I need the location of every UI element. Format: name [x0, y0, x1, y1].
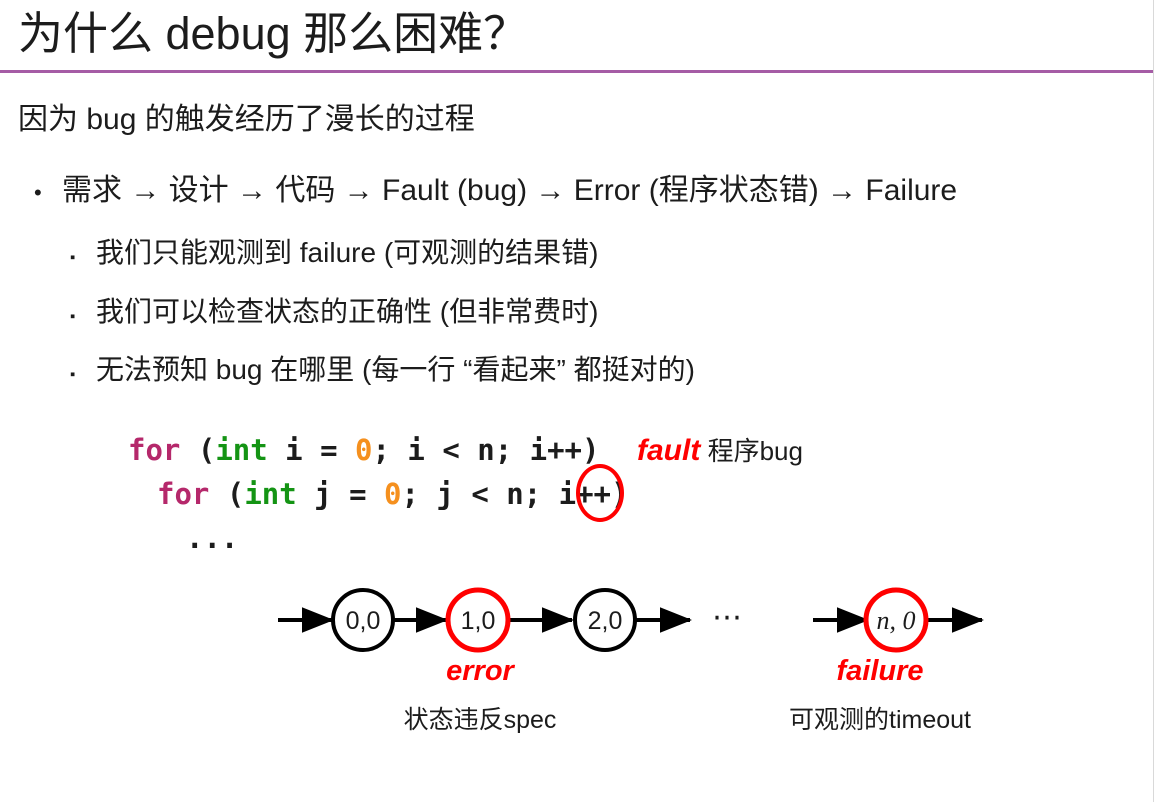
fault-annotation-zh: 程序bug [708, 436, 803, 466]
code-type-int: int [215, 433, 267, 467]
state-node-n0-failure: n, 0 [866, 590, 926, 650]
error-annotation-zh: 状态违反spec [380, 700, 580, 736]
code-punct: ( [180, 433, 215, 467]
slide-canvas: 为什么 debug 那么困难？ 因为 bug 的触发经历了漫长的过程 • 需求 … [0, 0, 1154, 802]
code-number-zero: 0 [355, 433, 372, 467]
bullet-square-icon: ▪ [70, 238, 96, 278]
bullet-level2-unknown-bug: ▪ 无法预知 bug 在哪里 (每一行 “看起来” 都挺对的) [70, 350, 695, 395]
bullet-level2-observe-failure: ▪ 我们只能观测到 failure (可观测的结果错) [70, 233, 598, 278]
bullet-level2-label: 我们只能观测到 failure (可观测的结果错) [96, 233, 598, 273]
code-keyword-for: for [157, 477, 209, 511]
error-annotation-em: error [405, 655, 555, 688]
state-node-label: 2,0 [588, 607, 623, 635]
bullet-square-icon: ▪ [70, 297, 96, 337]
bug-highlight-circle-icon [576, 464, 624, 522]
fault-annotation: fault 程序bug [637, 430, 803, 472]
code-line-ellipsis: ... [128, 516, 628, 560]
code-punct: ( [209, 477, 244, 511]
code-type-int: int [244, 477, 296, 511]
state-node-label: 1,0 [461, 607, 496, 635]
state-node-10-error: 1,0 [448, 590, 508, 650]
bullet-level2-label: 我们可以检查状态的正确性 (但非常费时) [96, 292, 598, 332]
bullet-dot-icon: • [34, 172, 62, 214]
code-line-inner-for: for (int j = 0; j < n; i++) [128, 472, 628, 516]
diagram-ellipsis: ⋯ [712, 600, 744, 635]
state-node-label: 0,0 [346, 607, 381, 635]
bullet-level1: • 需求 → 设计 → 代码 → Fault (bug) → Error (程序… [34, 170, 957, 214]
code-var-assign: j = [297, 477, 384, 511]
page-title: 为什么 debug 那么困难？ [18, 4, 528, 64]
state-node-20: 2,0 [575, 590, 635, 650]
bullet-level1-label: 需求 → 设计 → 代码 → Fault (bug) → Error (程序状态… [62, 170, 957, 212]
failure-annotation-zh: 可观测的timeout [765, 700, 995, 736]
code-sample: for (int i = 0; i < n; i++)for (int j = … [128, 428, 628, 560]
bullet-level2-label: 无法预知 bug 在哪里 (每一行 “看起来” 都挺对的) [96, 350, 695, 390]
subtitle-text: 因为 bug 的触发经历了漫长的过程 [18, 100, 475, 140]
code-condition-tail: ; i < n; i++) [372, 433, 599, 467]
state-node-00: 0,0 [333, 590, 393, 650]
code-line-outer-for: for (int i = 0; i < n; i++) [128, 428, 628, 472]
title-underline-rule [0, 70, 1154, 73]
bullet-level2-check-state: ▪ 我们可以检查状态的正确性 (但非常费时) [70, 292, 598, 337]
failure-annotation-em: failure [800, 655, 960, 688]
code-keyword-for: for [128, 433, 180, 467]
bullet-square-icon: ▪ [70, 355, 96, 395]
state-node-label: n, 0 [877, 606, 916, 635]
code-number-zero: 0 [384, 477, 401, 511]
fault-annotation-em: fault [637, 434, 700, 467]
slide-header: 为什么 debug 那么困难？ [0, 0, 1154, 76]
code-var-assign: i = [268, 433, 355, 467]
